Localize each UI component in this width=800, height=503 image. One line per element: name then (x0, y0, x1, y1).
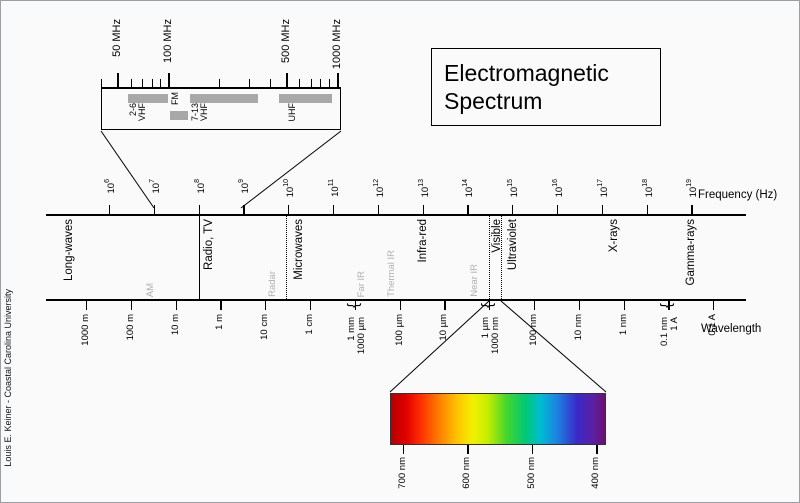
visible-tick-label: 700 nm (398, 457, 408, 489)
frequency-tick (691, 205, 692, 214)
wavelength-tick-label: 1 m (215, 314, 225, 330)
wavelength-tick (265, 301, 266, 310)
frequency-tick-label: 1013 (418, 179, 431, 197)
wavelength-brace: { (659, 303, 674, 308)
band-region: Long-waves AM Radio, TV Radar Microwaves… (46, 215, 746, 299)
frequency-tick (378, 205, 379, 214)
frequency-tick (288, 205, 289, 214)
inset-tick (160, 79, 161, 87)
frequency-tick-label: 109 (238, 179, 251, 193)
inset-tick (117, 73, 119, 87)
frequency-tick-label: 108 (194, 179, 207, 193)
band-name-radio-tv: Radio, TV (204, 219, 216, 270)
separator-radio-right (286, 215, 288, 299)
frequency-tick (109, 205, 110, 214)
wavelength-tick (220, 301, 221, 310)
frequency-tick (154, 205, 155, 214)
band-label-fm: FM (171, 92, 180, 105)
band-name-am: AM (146, 283, 156, 297)
wavelength-axis-line (46, 299, 746, 301)
wavelength-tick (131, 301, 132, 310)
frequency-axis-title: Frequency (Hz) (698, 189, 777, 201)
inset-tick (337, 73, 339, 87)
band-label-vhf-2-6-line2: 2-6 (129, 103, 138, 116)
frequency-tick-label: 1015 (507, 179, 520, 197)
frequency-tick-label: 107 (149, 179, 162, 193)
title-line-1: Electromagnetic (444, 59, 660, 87)
wavelength-tick-label: 100 nm (529, 314, 539, 346)
band-label-vhf-2-6-line1: VHF (138, 103, 147, 121)
frequency-tick (602, 205, 603, 214)
frequency-tick (647, 205, 648, 214)
frequency-tick (467, 205, 468, 214)
band-vhf-2-6 (128, 94, 168, 103)
wavelength-tick (310, 301, 311, 310)
wavelength-tick-label: 1 A (670, 317, 680, 331)
band-name-visible: Visible (492, 219, 504, 253)
inset-tick (270, 79, 271, 87)
title-line-2: Spectrum (444, 87, 660, 115)
inset-tick (219, 79, 220, 87)
inset-tick (168, 73, 170, 87)
band-name-xrays: X-rays (609, 219, 621, 252)
frequency-tick (243, 205, 244, 214)
frequency-tick-label: 106 (104, 179, 117, 193)
frequency-tick-label: 1014 (462, 179, 475, 197)
band-label-uhf: UHF (288, 103, 297, 122)
wavelength-tick-label: 1 cm (305, 314, 315, 335)
credit-text: Louis E. Keiner - Coastal Carolina Unive… (4, 289, 13, 467)
wavelength-tick (713, 301, 714, 310)
band-name-microwaves: Microwaves (294, 219, 306, 280)
frequency-tick (333, 205, 334, 214)
em-spectrum-diagram: Electromagnetic Spectrum Louis E. Keiner… (0, 0, 800, 503)
wavelength-tick (444, 301, 445, 310)
inset-tick (320, 79, 321, 87)
frequency-tick-label: 1011 (328, 179, 341, 197)
visible-tick-label: 500 nm (527, 457, 537, 489)
band-name-infra-red: Infra-red (418, 219, 430, 262)
band-name-long-waves: Long-waves (64, 219, 76, 281)
inset-tick-label: 500 MHz (281, 19, 292, 63)
inset-tick (249, 79, 250, 87)
wavelength-tick (579, 301, 580, 310)
wavelength-tick-label: 10 nm (574, 314, 584, 340)
visible-tick (596, 445, 597, 454)
frequency-tick-label: 1018 (642, 179, 655, 197)
visible-tick-label: 600 nm (462, 457, 472, 489)
band-name-ultraviolet: Ultraviolet (508, 219, 520, 270)
wavelength-tick-label: 1000 m (81, 314, 91, 346)
band-name-thermal-ir: Thermal IR (387, 250, 397, 297)
visible-tick (403, 445, 404, 454)
wavelength-tick (400, 301, 401, 310)
wavelength-tick-label: 1000 µm (357, 317, 367, 354)
inset-tick (101, 79, 102, 87)
inset-tick (131, 79, 132, 87)
inset-tick (299, 79, 300, 87)
wavelength-tick-label: 10 m (171, 314, 181, 335)
wavelength-tick (534, 301, 535, 310)
frequency-tick (199, 205, 200, 214)
wavelength-tick (624, 301, 625, 310)
inset-tick-label: 100 MHz (163, 19, 174, 63)
wavelength-tick-label: 100 m (126, 314, 136, 340)
frequency-tick (512, 205, 513, 214)
band-name-near-ir: Near IR (470, 264, 480, 297)
visible-tick (467, 445, 468, 454)
inset-tick (286, 73, 288, 87)
frequency-tick-label: 1016 (552, 179, 565, 197)
wavelength-tick-label: 1000 nm (491, 317, 501, 354)
inset-tick (329, 79, 330, 87)
inset-radio-box: VHF 2-6 FM VHF 7-13 UHF (101, 88, 341, 130)
visible-tick (532, 445, 533, 454)
frequency-tick-label: 1017 (597, 179, 610, 197)
wavelength-tick (86, 301, 87, 310)
separator-radio-left (199, 215, 201, 299)
band-vhf-7-13 (190, 94, 258, 103)
wavelength-tick-label: 1 mm (347, 317, 357, 341)
frequency-tick-label: 1010 (283, 179, 296, 197)
wavelength-tick (176, 301, 177, 310)
inset-tick-label: 1000 MHz (332, 19, 343, 69)
band-name-gamma-rays: Gamma-rays (686, 219, 698, 285)
wavelength-brace: { (346, 303, 361, 308)
frequency-tick (557, 205, 558, 214)
band-name-radar: Radar (268, 271, 278, 297)
wavelength-axis-title: Wavelength (701, 323, 761, 335)
band-label-vhf-7-13-line1: VHF (200, 103, 209, 121)
page-title: Electromagnetic Spectrum (431, 48, 661, 126)
inset-tick (142, 79, 143, 87)
inset-tick-label: 50 MHz (112, 19, 123, 57)
inset-tick (311, 79, 312, 87)
wavelength-tick-label: 1 µm (481, 317, 491, 338)
wavelength-brace: { (480, 303, 495, 308)
visible-spectrum-strip (390, 393, 606, 445)
band-name-far-ir: Far IR (357, 271, 367, 297)
inset-tick (152, 79, 153, 87)
wavelength-tick-label: 1 nm (619, 314, 629, 335)
wavelength-tick-label: 100 µm (395, 314, 405, 346)
band-label-vhf-7-13-line2: 7-13 (191, 103, 200, 121)
frequency-tick (423, 205, 424, 214)
wavelength-tick-label: 10 µm (439, 314, 449, 341)
band-fm (170, 111, 188, 120)
frequency-tick-label: 1012 (373, 179, 386, 197)
visible-tick-label: 400 nm (591, 457, 601, 489)
wavelength-tick-label: 0.1 nm (660, 317, 670, 346)
wavelength-tick-label: 10 cm (260, 314, 270, 340)
